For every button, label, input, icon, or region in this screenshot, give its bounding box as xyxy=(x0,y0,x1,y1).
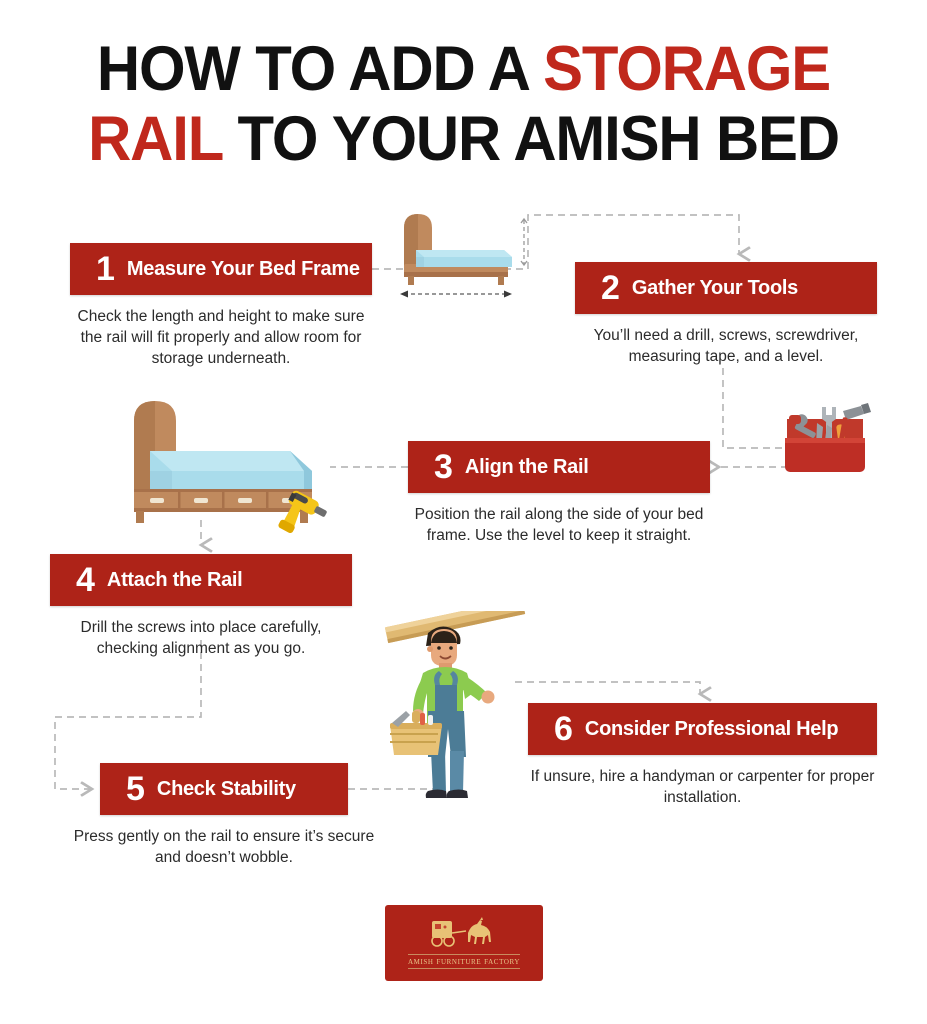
step-card-1[interactable]: 1 Measure Your Bed Frame Check the lengt… xyxy=(70,243,372,369)
infographic-page: HOW TO ADD A STORAGE RAIL TO YOUR AMISH … xyxy=(0,0,927,1024)
step-4-number: 4 xyxy=(76,563,95,597)
step-2-title: Gather Your Tools xyxy=(632,277,798,300)
step-5-title: Check Stability xyxy=(157,778,296,801)
toolbox-illustration xyxy=(773,391,879,491)
bed-with-measurements-illustration xyxy=(386,206,538,306)
step-5-band: 5 Check Stability xyxy=(100,763,348,815)
step-3-title: Align the Rail xyxy=(465,456,589,479)
step-1-description: Check the length and height to make sure… xyxy=(70,306,372,369)
horse-and-buggy-icon xyxy=(428,917,500,951)
step-1-title: Measure Your Bed Frame xyxy=(127,258,360,281)
brand-logo[interactable]: Amish Furniture Factory xyxy=(385,905,543,981)
step-5-number: 5 xyxy=(126,772,145,806)
step-3-band: 3 Align the Rail xyxy=(408,441,710,493)
step-card-3[interactable]: 3 Align the Rail Position the rail along… xyxy=(408,441,710,546)
step-1-band: 1 Measure Your Bed Frame xyxy=(70,243,372,295)
connector-5-to-6-b xyxy=(515,682,700,694)
step-card-4[interactable]: 4 Attach the Rail Drill the screws into … xyxy=(50,554,352,659)
bed-with-storage-rail-illustration xyxy=(112,397,354,533)
step-2-description: You’ll need a drill, screws, screwdriver… xyxy=(567,325,885,367)
step-1-number: 1 xyxy=(96,252,115,286)
step-2-number: 2 xyxy=(601,271,620,305)
step-4-description: Drill the screws into place carefully, c… xyxy=(50,617,352,659)
step-card-2[interactable]: 2 Gather Your Tools You’ll need a drill,… xyxy=(575,262,877,367)
step-6-number: 6 xyxy=(554,712,573,746)
step-6-title: Consider Professional Help xyxy=(585,718,838,741)
step-6-band: 6 Consider Professional Help xyxy=(528,703,877,755)
step-3-number: 3 xyxy=(434,450,453,484)
step-4-title: Attach the Rail xyxy=(107,569,243,592)
step-card-6[interactable]: 6 Consider Professional Help If unsure, … xyxy=(528,703,877,808)
carpenter-illustration xyxy=(378,611,540,819)
step-3-description: Position the rail along the side of your… xyxy=(408,504,710,546)
step-4-band: 4 Attach the Rail xyxy=(50,554,352,606)
step-6-description: If unsure, hire a handyman or carpenter … xyxy=(528,766,877,808)
step-card-5[interactable]: 5 Check Stability Press gently on the ra… xyxy=(100,763,348,868)
step-2-band: 2 Gather Your Tools xyxy=(575,262,877,314)
step-5-description: Press gently on the rail to ensure it’s … xyxy=(73,826,375,868)
brand-logo-text: Amish Furniture Factory xyxy=(408,954,520,969)
